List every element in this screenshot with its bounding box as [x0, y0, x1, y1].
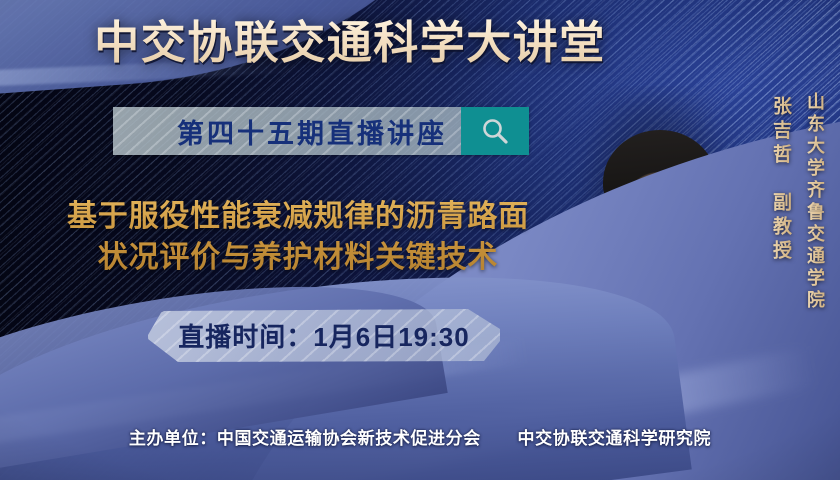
- topic-title: 基于服役性能衰减规律的沥青路面 状况评价与养护材料关键技术: [18, 196, 578, 279]
- search-icon[interactable]: [461, 107, 529, 155]
- session-label: 第四十五期直播讲座: [165, 107, 459, 155]
- webinar-poster: 中交协联交通科学大讲堂 第四十五期直播讲座 基于服役性能衰减规律的沥青路面 状况…: [0, 0, 840, 480]
- footer: 主办单位：中国交通运输协会新技术促进分会 中交协联交通科学研究院: [0, 424, 840, 449]
- portrait-nose: [652, 222, 669, 248]
- topic-line-2: 状况评价与养护材料关键技术: [18, 237, 578, 278]
- portrait-glasses-left: [617, 200, 655, 227]
- footer-host-prefix: 主办单位：中国交通运输协会新技术促进分会: [129, 429, 481, 448]
- broadcast-time-label: 直播时间：1月6日19:30: [148, 309, 500, 362]
- speaker-name-title: 张吉哲 副教授: [767, 96, 794, 264]
- speaker-affiliation: 山东大学齐鲁交通学院: [802, 92, 828, 312]
- session-bar: 第四十五期直播讲座: [113, 107, 529, 155]
- portrait-glasses-right: [666, 200, 704, 227]
- page-title: 中交协联交通科学大讲堂: [0, 16, 700, 71]
- portrait-chin: [636, 268, 684, 288]
- topic-line-1: 基于服役性能衰减规律的沥青路面: [67, 200, 529, 233]
- broadcast-time-pill: 直播时间：1月6日19:30: [148, 309, 500, 362]
- footer-organization: 中交协联交通科学研究院: [518, 429, 712, 448]
- portrait-glasses-bridge: [654, 208, 667, 211]
- portrait-mouth: [644, 258, 676, 263]
- speaker-portrait: [556, 86, 760, 416]
